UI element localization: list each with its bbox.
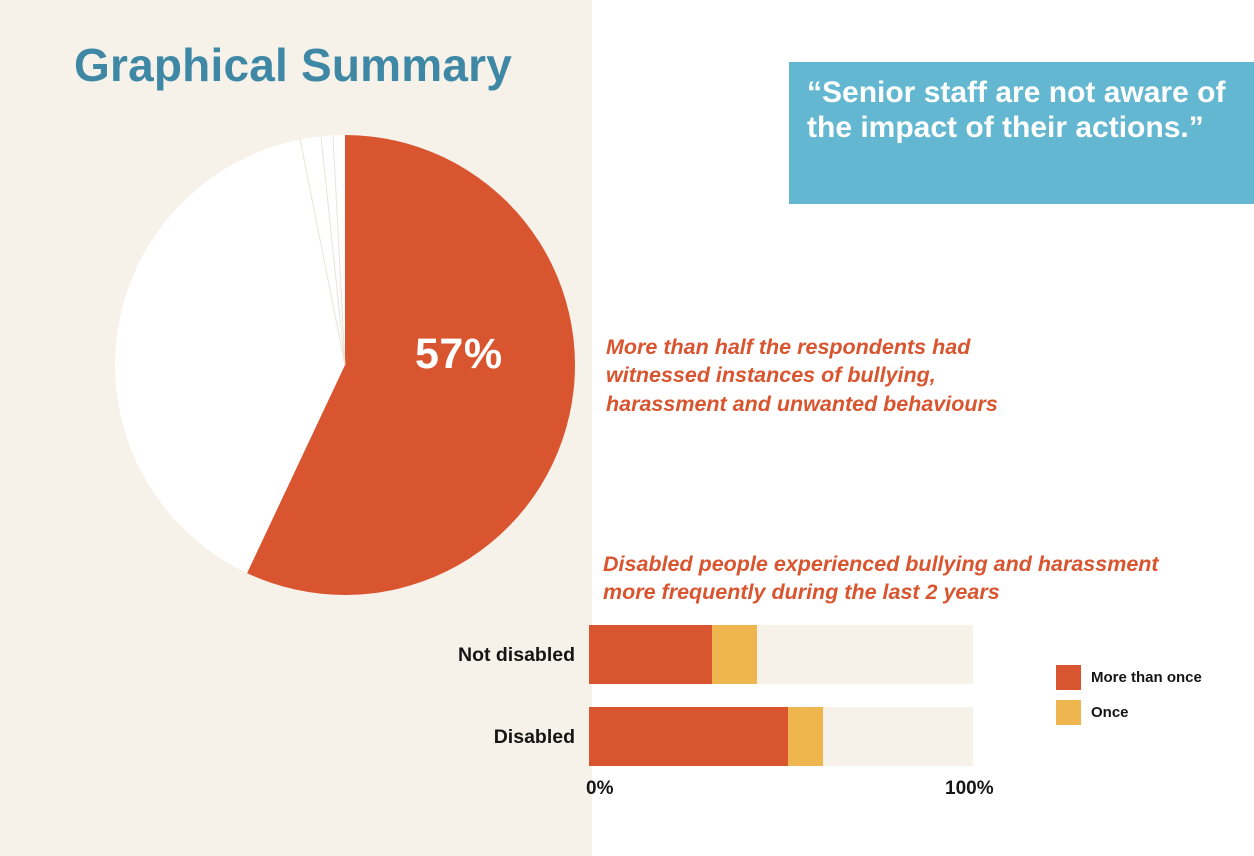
bar-row-not-disabled[interactable] — [589, 625, 973, 684]
bar-segment-once-not-disabled[interactable] — [712, 625, 757, 684]
pie-caption: More than half the respondents had witne… — [606, 333, 1036, 418]
legend-item-once[interactable]: Once — [1056, 700, 1202, 725]
bar-chart-caption: Disabled people experienced bullying and… — [603, 550, 1183, 607]
bar-row-disabled[interactable] — [589, 707, 973, 766]
legend-swatch-once — [1056, 700, 1081, 725]
quote-text: “Senior staff are not aware of the impac… — [807, 75, 1244, 145]
bar-category-label-not-disabled: Not disabled — [245, 644, 575, 667]
bar-segment-more-than-once-not-disabled[interactable] — [589, 625, 712, 684]
legend-label-more-than-once: More than once — [1091, 669, 1202, 686]
pie-chart-svg — [115, 135, 575, 595]
x-axis-tick-0: 0% — [586, 778, 613, 800]
pie-chart: 57% — [115, 135, 575, 595]
x-axis-tick-100: 100% — [945, 778, 994, 800]
page-title: Graphical Summary — [74, 38, 512, 92]
legend-swatch-more-than-once — [1056, 665, 1081, 690]
pie-value-label: 57% — [415, 330, 503, 379]
quote-callout-box: “Senior staff are not aware of the impac… — [789, 62, 1254, 204]
bar-chart-legend: More than once Once — [1056, 665, 1202, 735]
infographic-canvas: Graphical Summary 57% “Senior staff are … — [0, 0, 1254, 856]
bar-segment-more-than-once-disabled[interactable] — [589, 707, 788, 766]
bar-category-label-disabled: Disabled — [245, 726, 575, 749]
bar-segment-once-disabled[interactable] — [788, 707, 823, 766]
legend-label-once: Once — [1091, 704, 1129, 721]
legend-item-more-than-once[interactable]: More than once — [1056, 665, 1202, 690]
